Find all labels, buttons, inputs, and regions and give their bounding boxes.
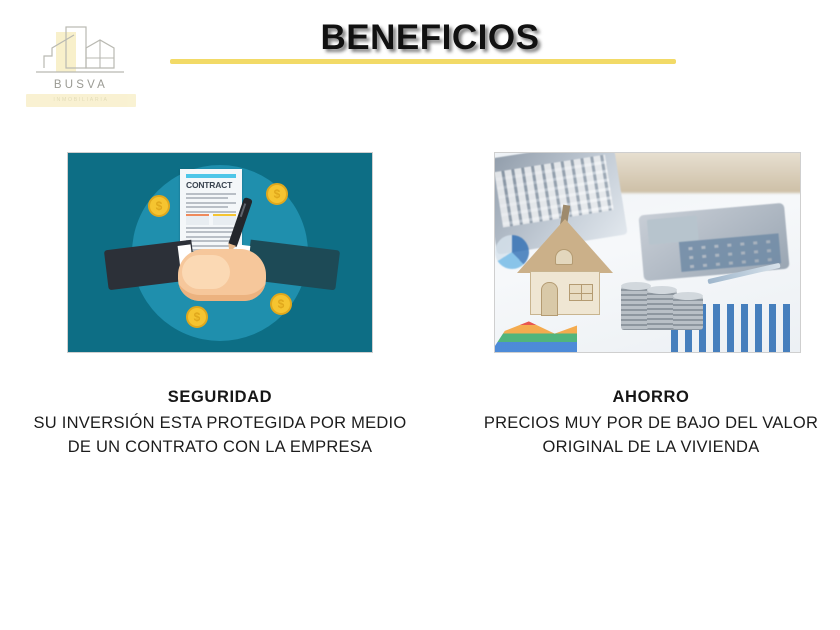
caption-body: SU INVERSIÓN ESTA PROTEGIDA POR MEDIO DE… [24, 412, 416, 459]
dollar-coin-icon: $ [148, 195, 170, 217]
dollar-coin-icon: $ [266, 183, 288, 205]
benefit-card-seguridad: CONTRACT $ $ $ $ [67, 152, 373, 353]
page-title: BENEFICIOS [180, 18, 680, 58]
document-fields [186, 214, 236, 225]
building-outline-icon [30, 24, 132, 80]
logo-wordmark: BUSVA [22, 79, 140, 91]
benefit-caption-seguridad: SEGURIDAD SU INVERSIÓN ESTA PROTEGIDA PO… [24, 386, 416, 459]
handshake-contract-illustration: CONTRACT $ $ $ $ [67, 152, 373, 353]
benefit-card-ahorro [494, 152, 801, 353]
wooden-desk-edge [613, 152, 801, 193]
caption-heading: AHORRO [462, 386, 840, 409]
illustration-background: CONTRACT $ $ $ $ [68, 153, 372, 352]
brand-logo: BUSVA INMOBILIARIA [22, 24, 140, 110]
slide-header: BUSVA INMOBILIARIA BENEFICIOS [0, 0, 840, 120]
document-title: CONTRACT [186, 180, 236, 190]
house-model-coins-calculator-photo [494, 152, 801, 353]
coin-top [647, 286, 677, 294]
house-attic-window [555, 249, 573, 265]
house-door [541, 282, 558, 316]
line-chart-graphic [494, 318, 577, 352]
house-body [530, 271, 600, 315]
handshake-hands [178, 249, 266, 301]
wooden-house-model [517, 205, 613, 315]
pen-clip [239, 203, 245, 217]
document-text-lines [186, 193, 236, 215]
logo-subtitle: INMOBILIARIA [26, 94, 136, 107]
dollar-coin-icon: $ [270, 293, 292, 315]
coin-top [673, 292, 703, 300]
title-underline-rule [170, 59, 676, 64]
document-header-bar [186, 174, 236, 178]
caption-body: PRECIOS MUY POR DE BAJO DEL VALOR ORIGIN… [462, 412, 840, 459]
logo-subtitle-band: INMOBILIARIA [26, 94, 136, 107]
coin-stack [673, 296, 703, 330]
caption-heading: SEGURIDAD [24, 386, 416, 409]
photo-background [495, 153, 800, 352]
house-window [569, 284, 593, 301]
dollar-coin-icon: $ [186, 306, 208, 328]
benefit-caption-ahorro: AHORRO PRECIOS MUY POR DE BAJO DEL VALOR… [462, 386, 840, 459]
